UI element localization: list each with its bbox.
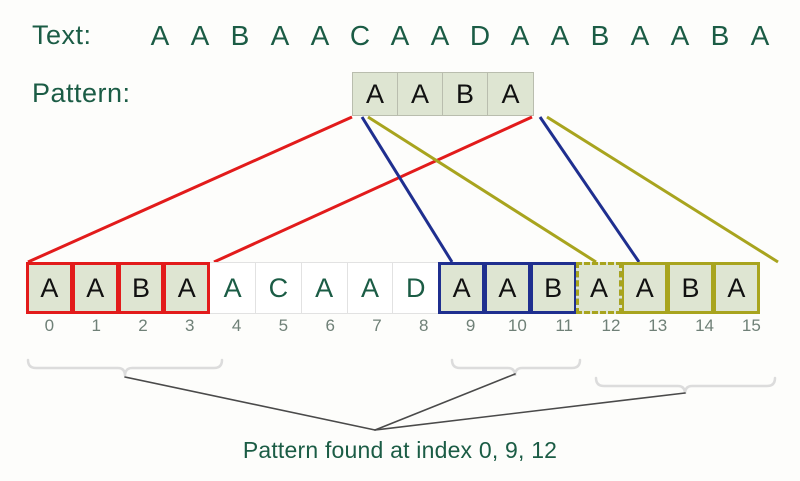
pattern-cell: B bbox=[443, 73, 488, 115]
text-cell: A bbox=[163, 262, 210, 314]
text-cell: A bbox=[301, 262, 348, 314]
text-char: A bbox=[300, 18, 340, 54]
text-char: A bbox=[140, 18, 180, 54]
text-cell: A bbox=[621, 262, 668, 314]
text-char: A bbox=[540, 18, 580, 54]
pattern-row-label: Pattern: bbox=[32, 78, 131, 109]
text-cell-row: AABAACAADAABAABA bbox=[26, 262, 759, 314]
text-cell: A bbox=[26, 262, 73, 314]
brace-match-9 bbox=[452, 360, 580, 376]
cell-index-label: 3 bbox=[166, 316, 213, 336]
pointer-line-12 bbox=[375, 393, 685, 430]
cell-index-label: 6 bbox=[307, 316, 354, 336]
pattern-box: AABA bbox=[352, 72, 534, 116]
text-cell: A bbox=[438, 262, 485, 314]
text-cell: A bbox=[72, 262, 119, 314]
pointer-line-9 bbox=[375, 374, 515, 430]
text-cell: C bbox=[255, 262, 302, 314]
cell-index-label: 9 bbox=[447, 316, 494, 336]
text-cell: B bbox=[667, 262, 714, 314]
text-char: A bbox=[380, 18, 420, 54]
cell-index-label: 4 bbox=[213, 316, 260, 336]
text-char: A bbox=[740, 18, 780, 54]
text-cell: A bbox=[576, 262, 623, 314]
cell-index-label: 14 bbox=[681, 316, 728, 336]
pointer-line-0 bbox=[125, 377, 375, 430]
cell-index-label: 1 bbox=[73, 316, 120, 336]
index-number-row: 0123456789101112131415 bbox=[26, 316, 775, 336]
connector-olive bbox=[368, 117, 778, 262]
algorithm-diagram: Text: Pattern: AABAACAADAABAABA AABA AAB… bbox=[0, 0, 800, 481]
brace-match-0 bbox=[28, 360, 222, 376]
text-char: A bbox=[260, 18, 300, 54]
text-char: A bbox=[500, 18, 540, 54]
text-char: A bbox=[620, 18, 660, 54]
brace-match-12 bbox=[596, 378, 775, 394]
pattern-cell: A bbox=[353, 73, 398, 115]
text-char: B bbox=[580, 18, 620, 54]
cell-index-label: 12 bbox=[588, 316, 635, 336]
text-char: D bbox=[460, 18, 500, 54]
cell-index-label: 11 bbox=[541, 316, 588, 336]
cell-index-label: 7 bbox=[354, 316, 401, 336]
text-cell: A bbox=[209, 262, 256, 314]
cell-index-label: 2 bbox=[120, 316, 167, 336]
connector-blue bbox=[362, 117, 639, 262]
cell-index-label: 10 bbox=[494, 316, 541, 336]
text-cell: A bbox=[484, 262, 531, 314]
text-char: A bbox=[180, 18, 220, 54]
text-cell: A bbox=[713, 262, 760, 314]
cell-index-label: 5 bbox=[260, 316, 307, 336]
text-char: B bbox=[220, 18, 260, 54]
connector-red bbox=[28, 117, 532, 262]
text-cell: B bbox=[530, 262, 577, 314]
text-char: A bbox=[420, 18, 460, 54]
text-cell: A bbox=[347, 262, 394, 314]
text-row-label: Text: bbox=[32, 20, 92, 51]
text-char: C bbox=[340, 18, 380, 54]
text-string: AABAACAADAABAABA bbox=[140, 18, 780, 54]
text-cell: B bbox=[118, 262, 165, 314]
cell-index-label: 0 bbox=[26, 316, 73, 336]
result-caption: Pattern found at index 0, 9, 12 bbox=[0, 437, 800, 464]
cell-index-label: 13 bbox=[634, 316, 681, 336]
pattern-cell: A bbox=[488, 73, 533, 115]
pattern-cell: A bbox=[398, 73, 443, 115]
text-cell: D bbox=[392, 262, 439, 314]
cell-index-label: 15 bbox=[728, 316, 775, 336]
text-char: B bbox=[700, 18, 740, 54]
text-char: A bbox=[660, 18, 700, 54]
cell-index-label: 8 bbox=[400, 316, 447, 336]
